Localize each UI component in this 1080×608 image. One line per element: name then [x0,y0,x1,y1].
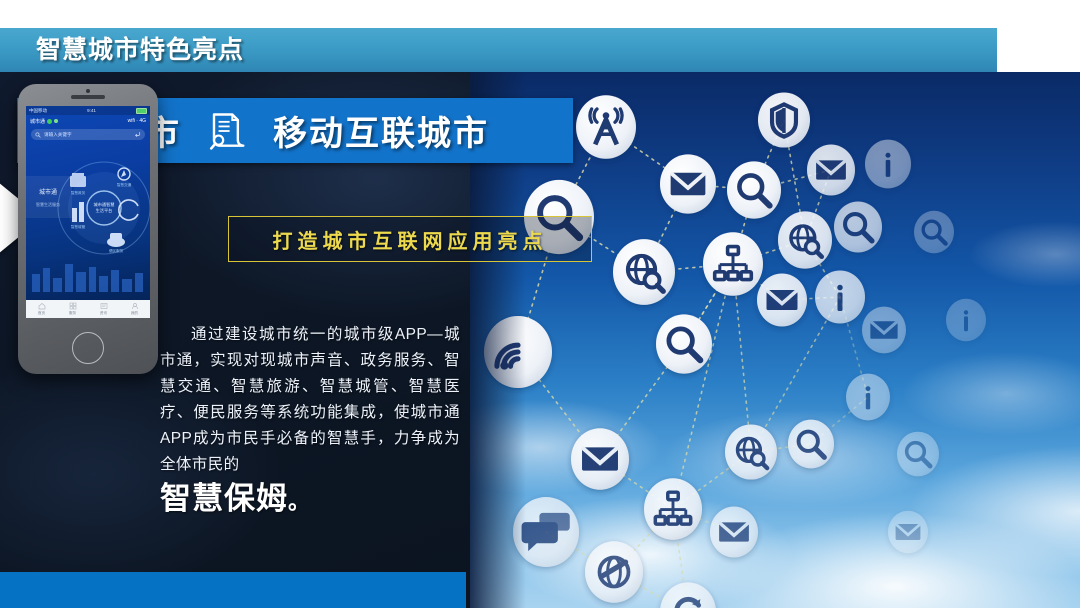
phone-camera-icon [86,89,90,93]
network-node [703,232,763,296]
phone-tab-bar[interactable]: 首页 服务 [26,300,150,318]
node-circle [914,211,954,253]
body-copy: 通过建设城市统一的城市级APP—城市通，实现对现城市声音、政务服务、智慧交通、智… [160,322,460,521]
network-link [673,264,733,509]
network-node [807,145,855,196]
footer-bar [0,572,466,608]
phone-panel-title: 城市通 [39,188,57,196]
svg-text:智慧交通: 智慧交通 [117,182,132,187]
news-icon [100,302,108,310]
network-node [571,428,629,489]
phone-tab-0[interactable]: 首页 [26,302,57,316]
info-icon [885,153,890,177]
node-circle [778,211,832,268]
search-icon [35,132,41,138]
phone-time: 9:41 [87,108,96,113]
info-icon [964,310,968,331]
battery-icon [136,108,147,114]
body-headline-punct: 。 [288,489,311,514]
network-node [710,507,758,558]
leaf-dot-icon-2 [54,119,58,123]
info-icon [866,386,871,409]
network-node [914,211,954,253]
network-node [788,420,834,469]
grid-icon [69,302,77,310]
user-icon [131,302,139,310]
body-headline-text: 智慧保姆 [160,481,288,516]
content-stage: 智慧城市 移动互联城市 打造城市互联网应用亮点 通过建设城市统一的城市级A [0,72,1080,608]
node-circle [834,202,882,253]
network-node [865,140,911,189]
node-circle [660,582,716,608]
envelope-icon [896,524,921,540]
envelope-icon [671,173,706,195]
network-node [660,154,716,213]
phone-speaker [71,95,105,99]
svg-text:城市通智慧: 城市通智慧 [94,201,115,208]
phone-tab-1[interactable]: 服务 [57,302,88,316]
network-node [727,161,781,218]
left-panel: 智慧城市 移动互联城市 打造城市互联网应用亮点 通过建设城市统一的城市级A [0,72,470,608]
phone-tab-1-label: 服务 [69,311,76,316]
svg-text:智慧城管: 智慧城管 [71,224,86,229]
svg-text:智慧政务: 智慧政务 [71,190,86,195]
envelope-icon [582,447,618,470]
network-node [846,374,890,421]
network-node [815,271,865,324]
network-node [862,307,906,354]
phone-search-input[interactable]: 请输入关键字 [31,129,145,140]
page-title: 智慧城市特色亮点 [36,32,244,68]
phone-screen: 中国移动 9:41 城市通 wifi · 4G [26,106,150,318]
network-node [585,541,643,602]
network-node [644,478,702,539]
network-node [613,239,675,305]
node-circle [897,432,939,477]
network-node [660,582,716,608]
network-node [758,92,810,147]
phone-tab-2[interactable]: 资讯 [88,302,119,316]
subtitle-text: 打造城市互联网应用亮点 [273,225,548,254]
phone-app-name: 城市通 [30,118,45,125]
envelope-icon [719,522,749,541]
node-circle [725,424,777,479]
phone-search-placeholder: 请输入关键字 [44,132,72,138]
network-node [484,316,552,388]
phone-app-tagline: wifi · 4G [128,118,146,124]
document-search-icon [203,108,247,154]
envelope-icon [767,290,798,310]
svg-text:便民服务: 便民服务 [109,248,124,253]
enter-arrow-icon [134,131,141,138]
body-headline: 智慧保姆。 [160,480,460,521]
node-circle [613,239,675,305]
home-icon [38,302,46,310]
network-node [576,95,636,159]
phone-panel-sub: 智慧生活服务 [36,201,60,207]
phone-status-bar: 中国移动 9:41 [26,106,150,115]
envelope-icon [870,321,897,339]
phone-tab-0-label: 首页 [38,311,45,316]
slide-root: 智慧城市特色亮点 智 [0,0,1080,608]
phone-tab-3-label: 我的 [131,311,138,316]
network-node [513,497,579,567]
network-node [725,424,777,479]
node-circle [788,420,834,469]
phone-carrier: 中国移动 [29,108,47,114]
node-circle [656,314,712,373]
home-button[interactable] [72,332,104,364]
network-node [656,314,712,373]
phone-city-skyline [26,258,150,292]
network-node [834,202,882,253]
phone-app-bar: 城市通 wifi · 4G [26,115,150,127]
envelope-icon [816,160,846,179]
network-nodes [484,92,986,608]
body-paragraph: 通过建设城市统一的城市级APP—城市通，实现对现城市声音、政务服务、智慧交通、智… [160,326,460,473]
network-node [778,211,832,268]
network-node [888,511,928,553]
node-circle [727,161,781,218]
subtitle-box: 打造城市互联网应用亮点 [228,216,592,262]
phone-service-wheel[interactable]: 城市通智慧 生活平台 [26,150,150,270]
network-node [897,432,939,477]
info-icon [837,285,843,311]
phone-mockup: 中国移动 9:41 城市通 wifi · 4G [18,84,158,374]
phone-tab-2-label: 资讯 [100,311,107,316]
svg-text:生活平台: 生活平台 [96,207,113,214]
phone-app-logo: 城市通 [30,118,58,125]
network-node [946,299,986,341]
network-node [757,274,807,327]
phone-tab-3[interactable]: 我的 [119,302,150,316]
leaf-dot-icon [47,119,52,124]
title-right-text: 移动互联城市 [273,106,489,155]
